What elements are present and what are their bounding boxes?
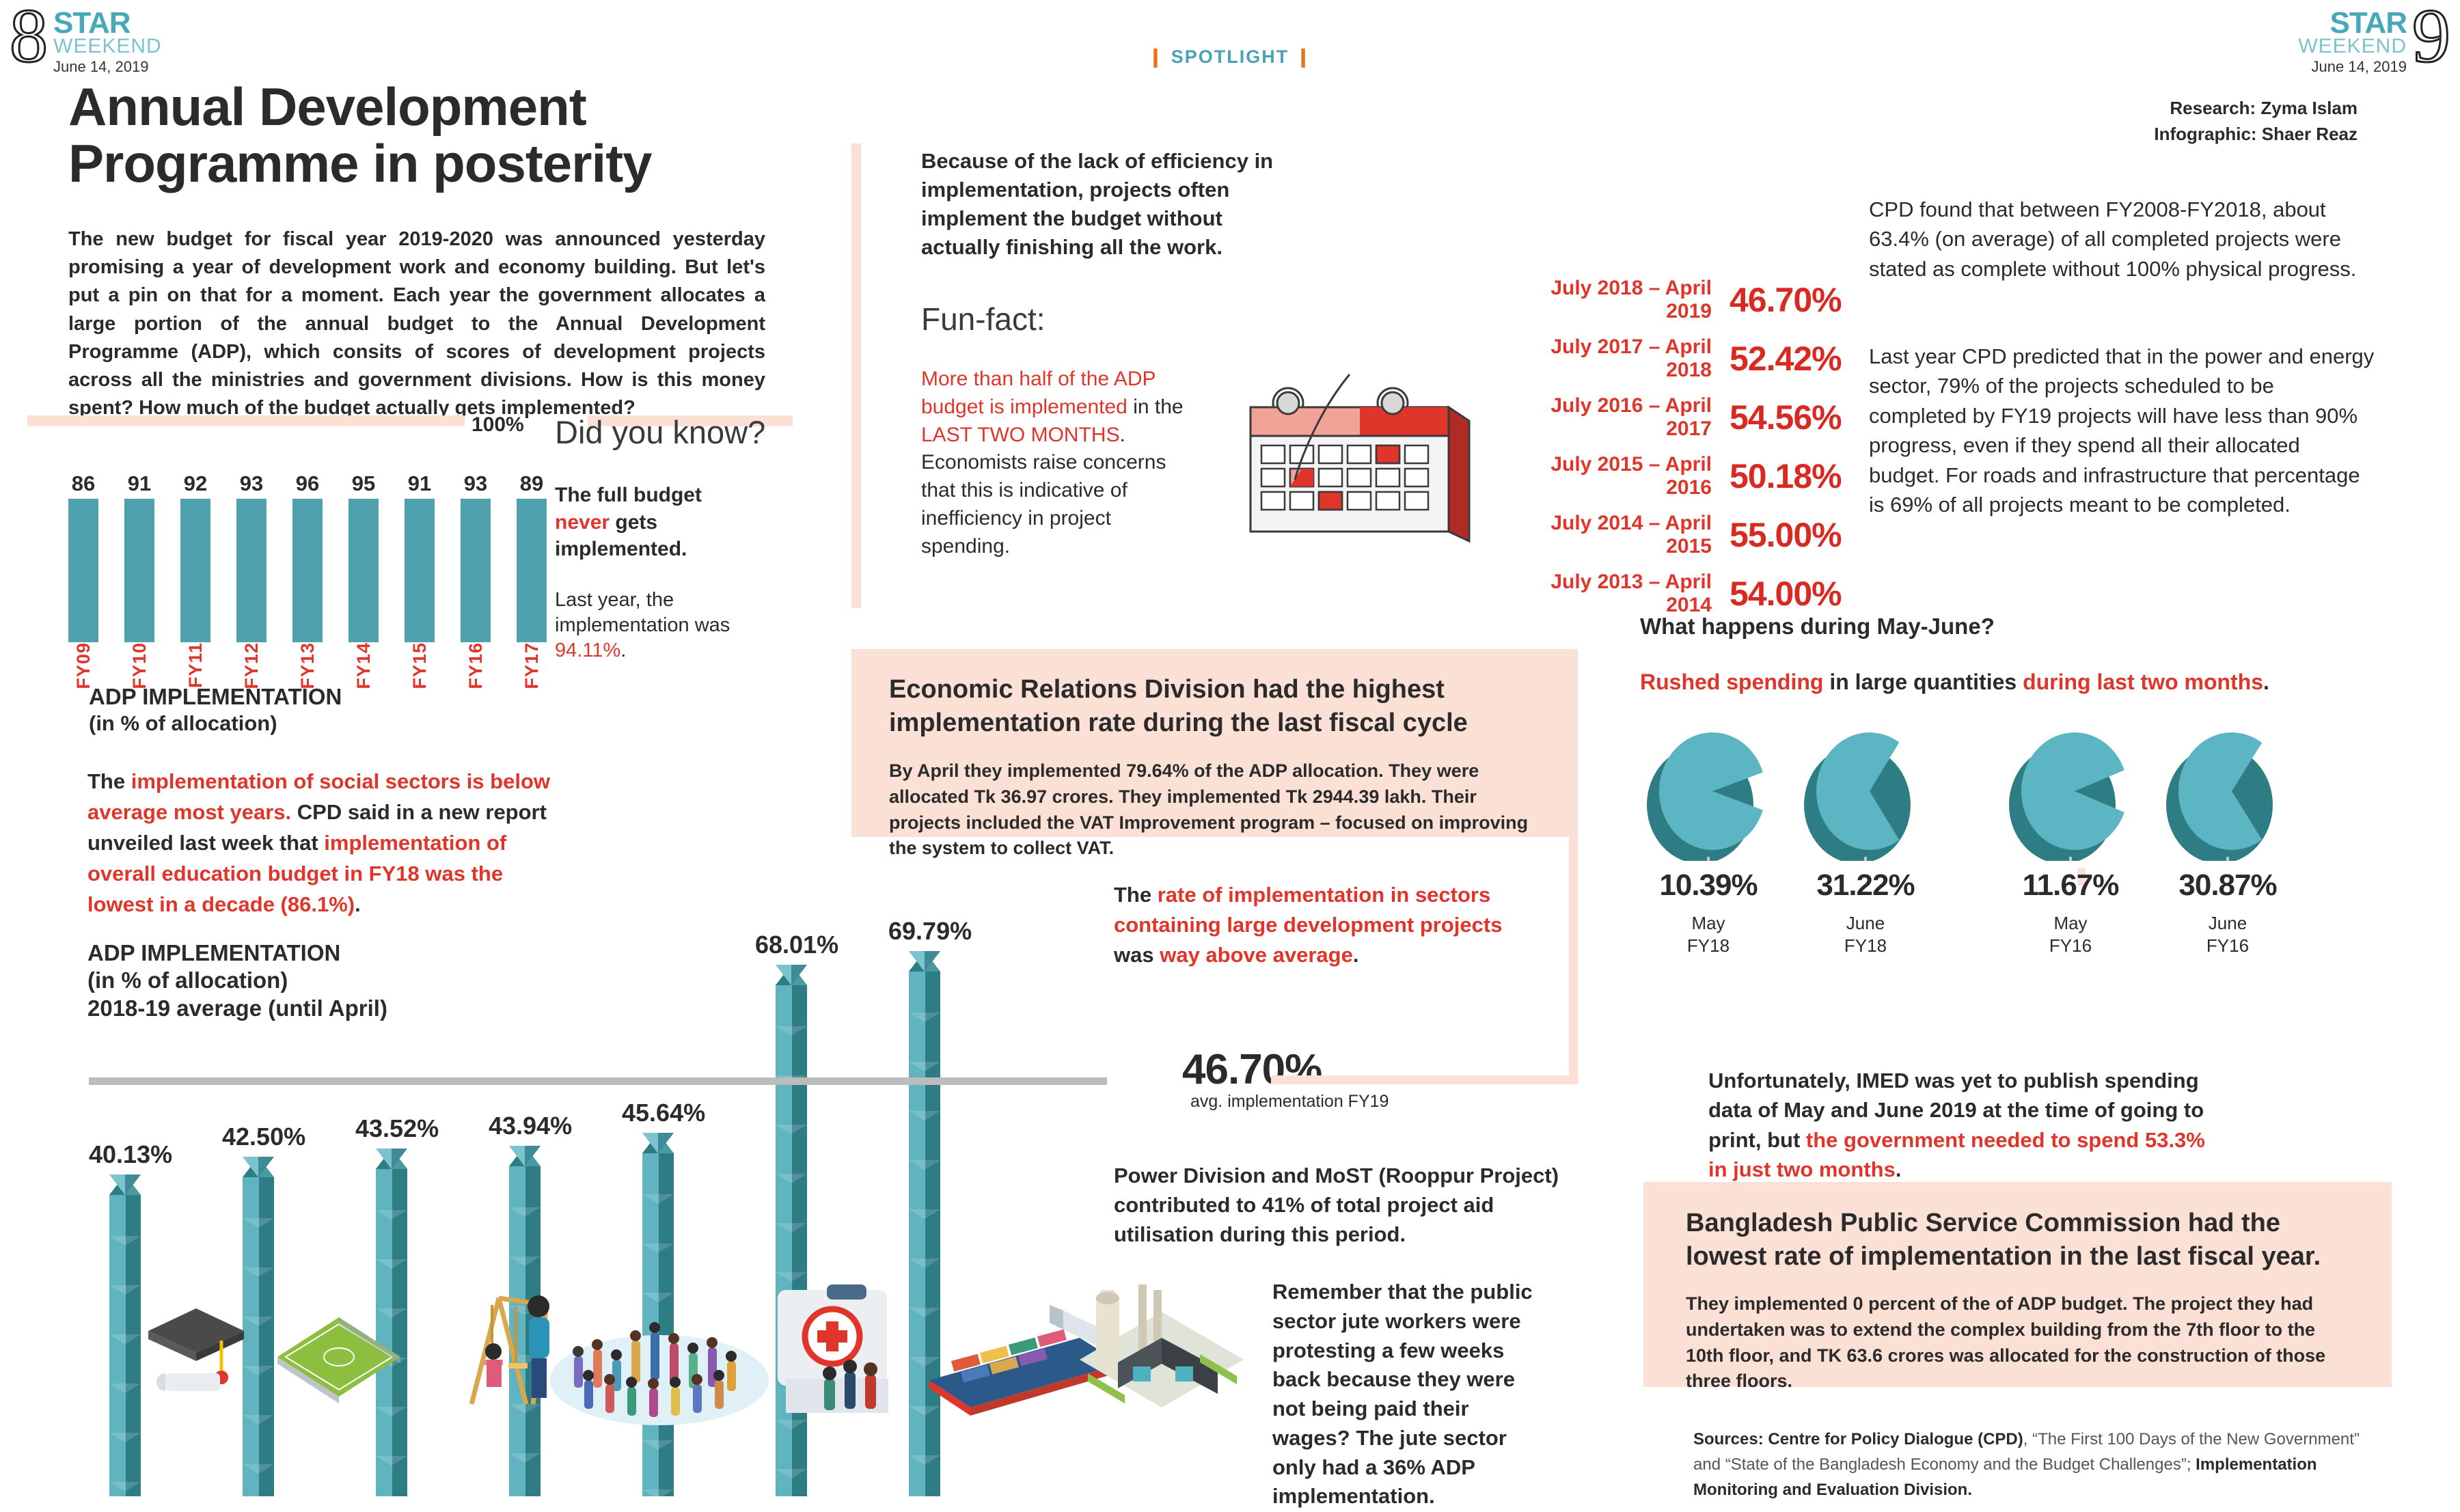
- cpd-finding-text: CPD found that between FY2008-FY2018, ab…: [1869, 195, 2361, 284]
- social-t1: The: [87, 769, 131, 793]
- funfact-t1: in the: [1127, 396, 1184, 418]
- period-value: 50.18%: [1730, 456, 1842, 496]
- period-value: 46.70%: [1730, 280, 1842, 320]
- pie-3d: [2159, 731, 2296, 861]
- sectors-note: The rate of implementation in sectors co…: [1114, 880, 1524, 970]
- chart2-bar-value: 43.94%: [489, 1112, 572, 1140]
- dyk-body-c: .: [620, 640, 626, 661]
- chart2-bar-cap: [509, 1146, 541, 1166]
- period-value: 54.56%: [1730, 398, 1842, 437]
- chart2-bar-cap: [243, 1157, 274, 1177]
- chart1-category-label: FY16: [461, 642, 491, 693]
- chart2-bar-chevron: [109, 1384, 141, 1393]
- dyk-text-a: The full budget: [555, 484, 702, 506]
- sectors-t2: was: [1114, 943, 1160, 967]
- page-title: Annual Development Programme in posterit…: [68, 79, 820, 191]
- erd-title: Economic Relations Division had the high…: [889, 673, 1518, 739]
- erd-callout: Economic Relations Division had the high…: [851, 649, 1578, 837]
- chart1-bar: [124, 499, 154, 642]
- pie-value: 10.39%: [1640, 868, 1777, 903]
- chart2-bar-chevron: [776, 1125, 807, 1134]
- chart1-bar-column: 92: [180, 471, 210, 642]
- table-row: July 2013 – April 201454.00%: [1507, 571, 1842, 617]
- pie-chart-item: 11.67%MayFY16: [2002, 731, 2139, 957]
- chart1-bar-value: 91: [128, 471, 151, 496]
- erd-body: By April they implemented 79.64% of the …: [889, 758, 1538, 862]
- power-plant-icon: [1073, 1264, 1250, 1435]
- pie-3d: [2002, 731, 2139, 861]
- period-label: July 2013 – April 2014: [1507, 571, 1712, 617]
- chart2-bar-value: 69.79%: [888, 917, 972, 946]
- table-row: July 2017 – April 201852.42%: [1507, 335, 1842, 382]
- pie-label-fy: FY16: [2159, 935, 2296, 957]
- football-field-icon: [271, 1304, 407, 1413]
- pie-label-fy: FY16: [2002, 935, 2139, 957]
- chart2-bar-chevron: [109, 1334, 141, 1344]
- chart2-bar-cap: [642, 1133, 674, 1153]
- pie-label: MayFY18: [1640, 912, 1777, 957]
- pie-label: MayFY16: [2002, 912, 2139, 957]
- chart2-bar-chevron: [376, 1210, 407, 1220]
- fun-fact-title: Fun-fact:: [921, 301, 1045, 338]
- bpsc-title: Bangladesh Public Service Commission had…: [1686, 1207, 2355, 1273]
- period-label: July 2017 – April 2018: [1507, 335, 1712, 382]
- period-label: July 2014 – April 2015: [1507, 512, 1712, 558]
- chart2-bar-chevron: [776, 1469, 807, 1479]
- chart2-bar-value: 43.52%: [355, 1114, 439, 1143]
- avg-implementation-caption: avg. implementation FY19: [1190, 1092, 1389, 1112]
- chart2-bar-chevron: [509, 1207, 541, 1217]
- chart2-bar-chevron: [909, 1013, 940, 1022]
- chart1-bar-column: 89: [517, 471, 547, 642]
- chart2-bar-chevron: [909, 1259, 940, 1268]
- sectors-r1: rate of implementation in sectors contai…: [1114, 883, 1502, 937]
- mj-t2: .: [2263, 670, 2269, 694]
- chart2-bar-chevron: [909, 1062, 940, 1071]
- spotlight-bar-left: ❙: [1148, 46, 1165, 67]
- chart2-bar-chevron: [776, 1223, 807, 1233]
- table-row: July 2015 – April 201650.18%: [1507, 453, 1842, 499]
- chart1-bar-value: 86: [72, 471, 95, 496]
- chart2-bar-chevron: [642, 1489, 674, 1499]
- dyk-body-a: Last year, the implementation was: [555, 589, 730, 636]
- mid-column-divider: [851, 143, 861, 608]
- pie-label-month: June: [1797, 912, 1934, 935]
- period-label: July 2018 – April 2019: [1507, 277, 1712, 323]
- chart1-bar-column: 91: [124, 471, 154, 642]
- intro-paragraph: The new budget for fiscal year 2019-2020…: [68, 225, 765, 422]
- brand-star: STAR: [53, 10, 162, 37]
- chart1-bar-value: 89: [520, 471, 543, 496]
- table-row: July 2014 – April 201555.00%: [1507, 512, 1842, 558]
- pie-label: JuneFY16: [2159, 912, 2296, 957]
- funfact-r1: More than half of the ADP budget is impl…: [921, 368, 1156, 418]
- chart1-bar: [517, 499, 547, 642]
- calendar-icon: [1223, 362, 1490, 553]
- pie-label-fy: FY18: [1797, 935, 1934, 957]
- chart1-bar-column: 93: [461, 471, 491, 642]
- chart1-caption-line1: ADP IMPLEMENTATION: [89, 683, 342, 711]
- period-label: July 2015 – April 2016: [1507, 453, 1712, 499]
- chart2-bar-chevron: [909, 1160, 940, 1170]
- pie-chart-item: 31.22%JuneFY18: [1797, 731, 1934, 957]
- pie-label: JuneFY18: [1797, 912, 1934, 957]
- did-you-know-body: Last year, the implementation was 94.11%…: [555, 588, 760, 663]
- chart2-bar-chevron: [642, 1243, 674, 1253]
- chart2-bar-chevron: [909, 1455, 940, 1465]
- chart1-category-label: FY15: [405, 642, 435, 693]
- chart1-bar-value: 92: [184, 471, 207, 496]
- period-value: 52.42%: [1730, 339, 1842, 379]
- mj-t1: in large quantities: [1823, 670, 2023, 694]
- brand-star: STAR: [2298, 10, 2407, 37]
- funfact-r2: LAST TWO MONTHS: [921, 424, 1120, 446]
- chart1-bar-value: 93: [464, 471, 487, 496]
- chart2-bar-value: 40.13%: [89, 1140, 172, 1169]
- pie-chart-item: 30.87%JuneFY16: [2159, 731, 2296, 957]
- chart2-bar-chevron: [909, 1209, 940, 1219]
- health-clinic-icon: [758, 1276, 916, 1433]
- erd-horizontal-rule: [1271, 1075, 1578, 1084]
- did-you-know-bold: The full budget never gets implemented.: [555, 482, 760, 563]
- spotlight-text: SPOTLIGHT: [1171, 46, 1289, 67]
- bpsc-body: They implemented 0 percent of the of ADP…: [1686, 1291, 2355, 1394]
- chart2-bar-chevron: [776, 1026, 807, 1036]
- chart2-bar-chevron: [243, 1267, 274, 1277]
- chart2-average-line: [89, 1077, 1107, 1085]
- mj-r2: during last two months: [2023, 670, 2263, 694]
- cpd-prediction-text: Last year CPD predicted that in the powe…: [1869, 342, 2375, 519]
- may-june-subtitle: Rushed spending in large quantities duri…: [1640, 670, 2269, 695]
- chart1-bar-value: 95: [352, 471, 375, 496]
- chart1-bar-column: 91: [405, 471, 435, 642]
- chart1-bar: [348, 499, 379, 642]
- power-division-note: Power Division and MoST (Rooppur Project…: [1114, 1162, 1565, 1249]
- chart1-caption-line2: (in % of allocation): [89, 711, 342, 737]
- did-you-know-title: Did you know?: [555, 413, 765, 451]
- chart1-bar: [292, 499, 323, 642]
- credits: Research: Zyma Islam Infographic: Shaer …: [2154, 96, 2357, 147]
- table-row: July 2018 – April 201946.70%: [1507, 277, 1842, 323]
- chart2-bar-chevron: [642, 1194, 674, 1204]
- chart2-bar-chevron: [909, 1111, 940, 1121]
- pie-3d: [1797, 731, 1934, 861]
- chart2-bar-chevron: [243, 1218, 274, 1228]
- section-label: ❙ SPOTLIGHT ❙: [0, 46, 2460, 68]
- chart1-bars: 869192939695919389: [68, 471, 547, 642]
- chart2-bar-chevron: [243, 1415, 274, 1425]
- erd-vertical-rule: [1569, 837, 1578, 1083]
- pie-value: 30.87%: [2159, 868, 2296, 903]
- pie-value: 11.67%: [2002, 868, 2139, 903]
- chart1-bar: [180, 499, 210, 642]
- sources-footer: Sources: Centre for Policy Dialogue (CPD…: [1693, 1427, 2390, 1503]
- chart2-bar-value: 42.50%: [222, 1123, 305, 1151]
- chart2-bar-chevron: [243, 1464, 274, 1474]
- chart2-bar-chevron: [776, 1174, 807, 1183]
- chart1-category-label: FY17: [517, 642, 547, 693]
- chart2-bar-cap: [776, 965, 807, 985]
- chart2-bar-chevron: [109, 1285, 141, 1295]
- chart2-bar-chevron: [109, 1236, 141, 1246]
- may-june-title: What happens during May-June?: [1640, 614, 1995, 640]
- chart1-bar-column: 93: [236, 471, 266, 642]
- pie-label-fy: FY18: [1640, 935, 1777, 957]
- credit-infographic: Infographic: Shaer Reaz: [2154, 122, 2357, 148]
- sectors-r2: way above average: [1160, 943, 1353, 967]
- mj-r1: Rushed spending: [1640, 670, 1823, 694]
- pie-3d: [1640, 731, 1777, 861]
- sectors-t3: .: [1353, 943, 1359, 967]
- imed-note: Unfortunately, IMED was yet to publish s…: [1708, 1066, 2228, 1185]
- chart2-bar-chevron: [509, 1453, 541, 1463]
- pie-label-month: June: [2159, 912, 2296, 935]
- graduation-cap-icon: [145, 1298, 247, 1407]
- chart1-bar-column: 86: [68, 471, 98, 642]
- sources-lead: Sources: Centre for Policy Dialogue (CPD…: [1693, 1430, 2023, 1448]
- table-row: July 2016 – April 201754.56%: [1507, 394, 1842, 441]
- chart1-bar-column: 95: [348, 471, 379, 642]
- chart2-bar-cap: [376, 1149, 407, 1169]
- chart2-bar-chevron: [376, 1259, 407, 1269]
- dyk-text-never: never: [555, 511, 610, 534]
- avg-implementation-value: 46.70%: [1182, 1045, 1322, 1094]
- chart2-bar-cap: [909, 951, 940, 972]
- chart2-bar-face: [109, 1195, 141, 1496]
- chart2-bar-value: 45.64%: [622, 1099, 705, 1127]
- period-label: July 2016 – April 2017: [1507, 394, 1712, 441]
- pie-label-month: May: [1640, 912, 1777, 935]
- dyk-body-value: 94.11%: [555, 640, 620, 661]
- fun-fact-body: More than half of the ADP budget is impl…: [921, 366, 1201, 561]
- period-value: 55.00%: [1730, 515, 1842, 555]
- pie-label-month: May: [2002, 912, 2139, 935]
- chart-may-june-rushed-spending: 10.39%MayFY1831.22%JuneFY1811.67%MayFY16…: [1640, 731, 2392, 1004]
- chart2-bar-chevron: [109, 1482, 141, 1492]
- crowd-population-icon: [547, 1284, 772, 1428]
- chart2-bar-value: 68.01%: [755, 931, 838, 959]
- chart1-bar: [68, 499, 98, 642]
- chart-adp-implementation-by-year: 869192939695919389: [68, 424, 547, 642]
- chart1-bar-column: 96: [292, 471, 323, 642]
- chart2-bar-chevron: [109, 1433, 141, 1442]
- chart1-bar: [236, 499, 266, 642]
- chart1-caption: ADP IMPLEMENTATION (in % of allocation): [89, 683, 342, 737]
- bpsc-callout: Bangladesh Public Service Commission had…: [1643, 1182, 2392, 1387]
- period-value: 54.00%: [1730, 574, 1842, 614]
- chart1-bar: [461, 499, 491, 642]
- chart2-bar-cap: [109, 1174, 141, 1195]
- chart1-bar-value: 91: [408, 471, 431, 496]
- chart2-bar-chevron: [642, 1440, 674, 1450]
- mid-intro-text: Because of the lack of efficiency in imp…: [921, 147, 1276, 261]
- credit-research: Research: Zyma Islam: [2154, 96, 2357, 122]
- imed-t2: .: [1896, 1157, 1902, 1181]
- fiscal-period-implementation-table: July 2018 – April 201946.70%July 2017 – …: [1507, 277, 1842, 629]
- chart1-bar-value: 93: [240, 471, 263, 496]
- sectors-t1: The: [1114, 883, 1158, 907]
- jute-workers-note: Remember that the public sector jute wor…: [1272, 1278, 1546, 1511]
- pie-chart-item: 10.39%MayFY18: [1640, 731, 1777, 957]
- spotlight-bar-right: ❙: [1296, 46, 1313, 67]
- chart1-bar-value: 96: [296, 471, 319, 496]
- pie-value: 31.22%: [1797, 868, 1934, 903]
- chart1-bar: [405, 499, 435, 642]
- chart1-category-label: FY14: [348, 642, 379, 693]
- chart2-bar-chevron: [376, 1456, 407, 1466]
